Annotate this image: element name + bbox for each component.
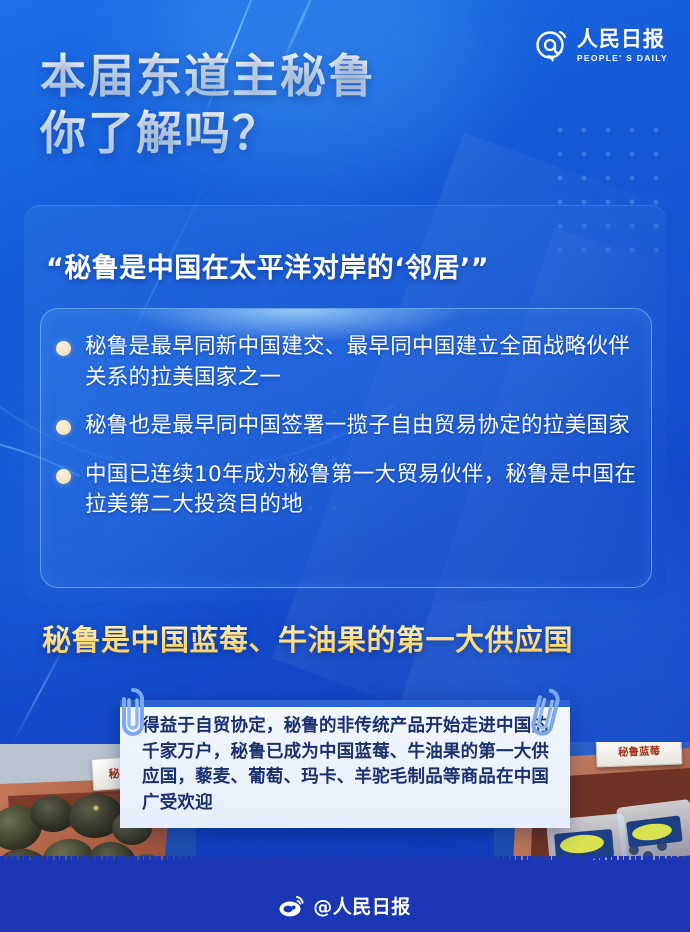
title-line-2: 你了解吗？ [40,105,600,162]
paperclip-icon [116,686,150,742]
page-title: 本届东道主秘鲁 你了解吗？ [40,48,600,162]
bullet-dot-icon [56,420,71,435]
bullet-list: 秘鲁是最早同新中国建交、最早同中国建立全面战略伙伴关系的拉美国家之一 秘鲁也是最… [56,332,642,539]
bullet-dot-icon [56,341,71,356]
list-item: 秘鲁是最早同新中国建交、最早同中国建立全面战略伙伴关系的拉美国家之一 [56,332,642,393]
note-card: 得益于自贸协定，秘鲁的非传统产品开始走进中国的千家万户，秘鲁已成为中国蓝莓、牛油… [120,700,570,828]
note-text: 得益于自贸协定，秘鲁的非传统产品开始走进中国的千家万户，秘鲁已成为中国蓝莓、牛油… [142,714,554,817]
supply-heading: 秘鲁是中国蓝莓、牛油果的第一大供应国 [42,617,573,659]
quote-heading: “秘鲁是中国在太平洋对岸的‘邻居’” [46,246,646,285]
weibo-watermark: @人民日报 [0,892,690,919]
bullet-text: 秘鲁是最早同新中国建交、最早同中国建立全面战略伙伴关系的拉美国家之一 [85,332,642,393]
weibo-icon [279,895,305,917]
bullet-text: 中国已连续10年成为秘鲁第一大贸易伙伴，秘鲁是中国在拉美第二大投资目的地 [85,460,642,521]
poster-root: 人民日报 PEOPLE' S DAILY 本届东道主秘鲁 你了解吗？ “秘鲁是中… [0,0,690,932]
blueberry-sign-text: 秘鲁蓝莓 [618,743,660,759]
blueberry-sign: 秘鲁蓝莓 [596,742,683,767]
torn-paper-edge [0,856,690,864]
title-line-1: 本届东道主秘鲁 [40,48,600,105]
list-item: 秘鲁也是最早同中国签署一揽子自由贸易协定的拉美国家 [56,411,642,442]
weibo-handle: @人民日报 [313,892,411,919]
list-item: 中国已连续10年成为秘鲁第一大贸易伙伴，秘鲁是中国在拉美第二大投资目的地 [56,460,642,521]
bullet-text: 秘鲁也是最早同中国签署一揽子自由贸易协定的拉美国家 [85,411,630,442]
bullet-dot-icon [56,469,71,484]
